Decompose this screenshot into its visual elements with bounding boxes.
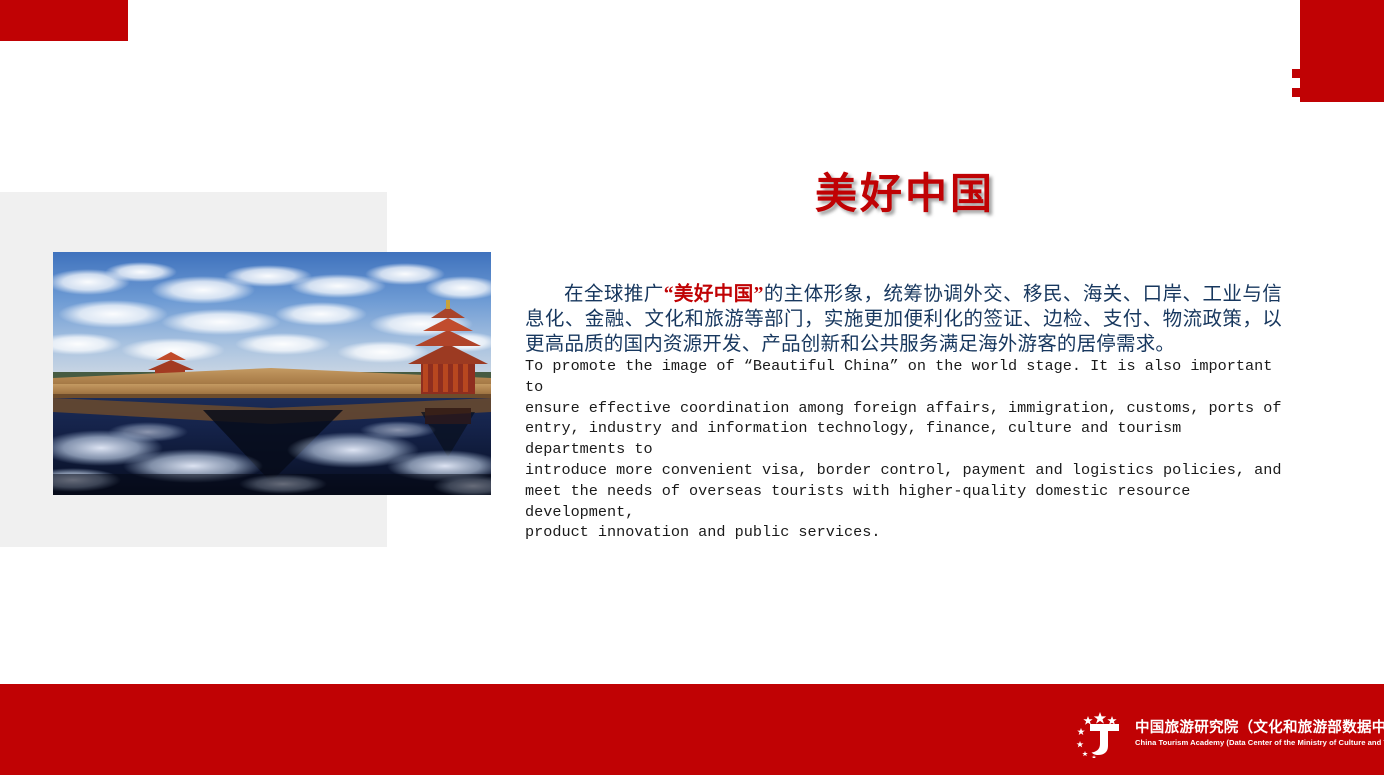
slide-title: 美好中国 (525, 172, 1285, 218)
footer-logo-name-cn: 中国旅游研究院（文化和旅游部数据中心） (1135, 721, 1384, 736)
decor-tab-lower (1292, 88, 1301, 97)
footer-logo: 中国旅游研究院（文化和旅游部数据中心） China Tourism Academ… (1072, 710, 1384, 758)
decor-block-top-left (0, 0, 128, 41)
forbidden-city-photo (53, 252, 491, 495)
footer-logo-name-en: China Tourism Academy (Data Center of th… (1135, 739, 1384, 747)
decor-block-top-right (1300, 0, 1384, 102)
china-tourism-academy-logo-icon (1072, 710, 1128, 758)
slide-root: 美好中国 在全球推广“美好中国”的主体形象，统筹协调外交、移民、海关、口岸、工业… (0, 0, 1384, 775)
paragraph-chinese: 在全球推广“美好中国”的主体形象，统筹协调外交、移民、海关、口岸、工业与信息化、… (525, 282, 1282, 357)
paragraph-chinese-highlight: “美好中国” (664, 284, 764, 305)
paragraph-english: To promote the image of “Beautiful China… (525, 356, 1285, 543)
footer-logo-text: 中国旅游研究院（文化和旅游部数据中心） China Tourism Academ… (1135, 721, 1384, 747)
decor-tab-upper (1292, 69, 1301, 78)
paragraph-chinese-lead: 在全球推广 (564, 284, 664, 305)
